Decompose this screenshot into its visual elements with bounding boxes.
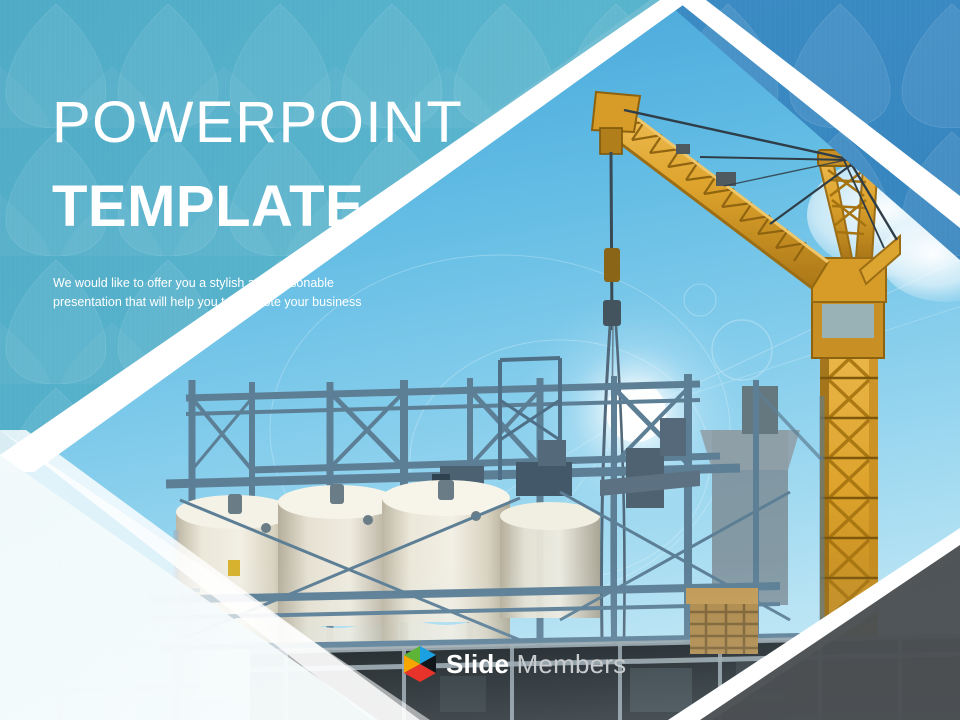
slidemembers-hexagon-icon — [403, 645, 437, 683]
title-text-block: POWERPOINT TEMPLATE We would like to off… — [52, 92, 572, 312]
slidemembers-logo[interactable]: Slide Members — [403, 645, 626, 683]
subtitle-text: We would like to offer you a stylish and… — [53, 274, 383, 312]
logo-word-slide: Slide — [446, 649, 509, 679]
logo-wordmark: Slide Members — [446, 651, 626, 677]
logo-word-members: Members — [509, 649, 626, 679]
page-title-line-2: TEMPLATE — [52, 176, 572, 238]
page-title-line-1: POWERPOINT — [52, 92, 572, 154]
slide-canvas: POWERPOINT TEMPLATE We would like to off… — [0, 0, 960, 720]
